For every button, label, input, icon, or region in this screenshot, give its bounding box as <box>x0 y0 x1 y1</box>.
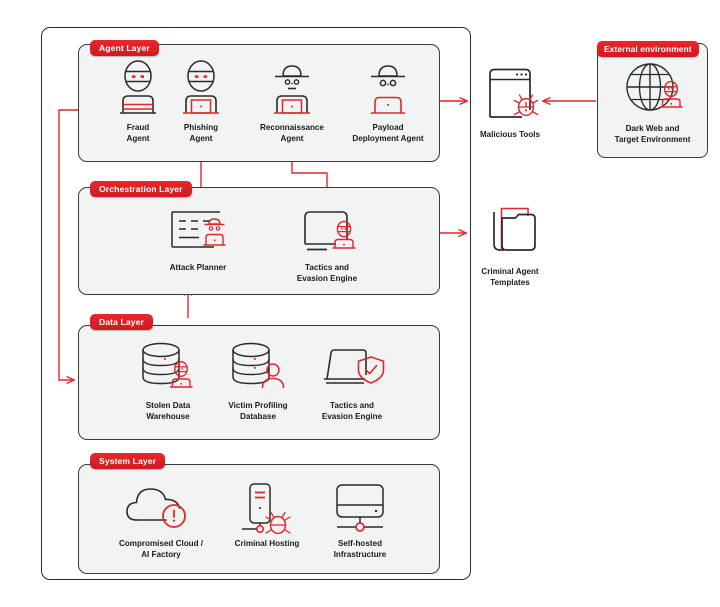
node-label: Criminal Agent Templates <box>455 267 565 288</box>
node-attack-planner[interactable]: Attack Planner <box>143 198 253 274</box>
node-label: Payload Deployment Agent <box>340 123 436 144</box>
masked-agent-laptop-icon <box>153 58 249 120</box>
diagram-canvas: Agent Layer Fraud Agent <box>0 0 720 607</box>
hat-agent-screen-icon <box>340 58 436 120</box>
globe-agent-icon <box>597 58 708 120</box>
node-compromised-cloud-ai-factory[interactable]: Compromised Cloud / AI Factory <box>100 474 222 560</box>
cloud-alert-icon <box>100 474 222 536</box>
node-self-hosted-infrastructure[interactable]: Self-hosted Infrastructure <box>305 474 415 560</box>
badge-system-layer: System Layer <box>90 453 165 469</box>
laptop-shield-check-icon <box>297 336 407 398</box>
folder-template-icon <box>455 199 565 263</box>
node-criminal-agent-templates[interactable]: Criminal Agent Templates <box>455 199 565 288</box>
node-label: Tactics and Evasion Engine <box>272 263 382 284</box>
plan-board-agent-icon <box>143 198 253 260</box>
node-reconnaissance-agent[interactable]: Reconnaissance Agent <box>244 58 340 144</box>
node-label: Attack Planner <box>143 263 253 274</box>
node-tactics-evasion-engine-data[interactable]: Tactics and Evasion Engine <box>297 336 407 422</box>
node-label: Self-hosted Infrastructure <box>305 539 415 560</box>
node-label: Phishing Agent <box>153 123 249 144</box>
node-label: Dark Web and Target Environment <box>597 124 708 145</box>
layer-orchestration-layer[interactable] <box>78 187 440 295</box>
node-malicious-tools[interactable]: Malicious Tools <box>455 62 565 141</box>
node-label: Tactics and Evasion Engine <box>297 401 407 422</box>
node-label: Compromised Cloud / AI Factory <box>100 539 222 560</box>
badge-orchestration-layer: Orchestration Layer <box>90 181 192 197</box>
badge-external-environment: External environment <box>597 41 699 57</box>
badge-data-layer: Data Layer <box>90 314 153 330</box>
node-tactics-evasion-engine-orchestration[interactable]: Tactics and Evasion Engine <box>272 198 382 284</box>
node-payload-deployment-agent[interactable]: Payload Deployment Agent <box>340 58 436 144</box>
node-dark-web-target-environment[interactable]: Dark Web and Target Environment <box>597 58 708 145</box>
server-rack-node-icon <box>305 474 415 536</box>
node-label: Reconnaissance Agent <box>244 123 340 144</box>
browser-window-bug-icon <box>455 62 565 126</box>
node-label: Malicious Tools <box>455 130 565 141</box>
node-phishing-agent[interactable]: Phishing Agent <box>153 58 249 144</box>
badge-agent-layer: Agent Layer <box>90 40 159 56</box>
monitor-agent-icon <box>272 198 382 260</box>
hat-agent-laptop-icon <box>244 58 340 120</box>
